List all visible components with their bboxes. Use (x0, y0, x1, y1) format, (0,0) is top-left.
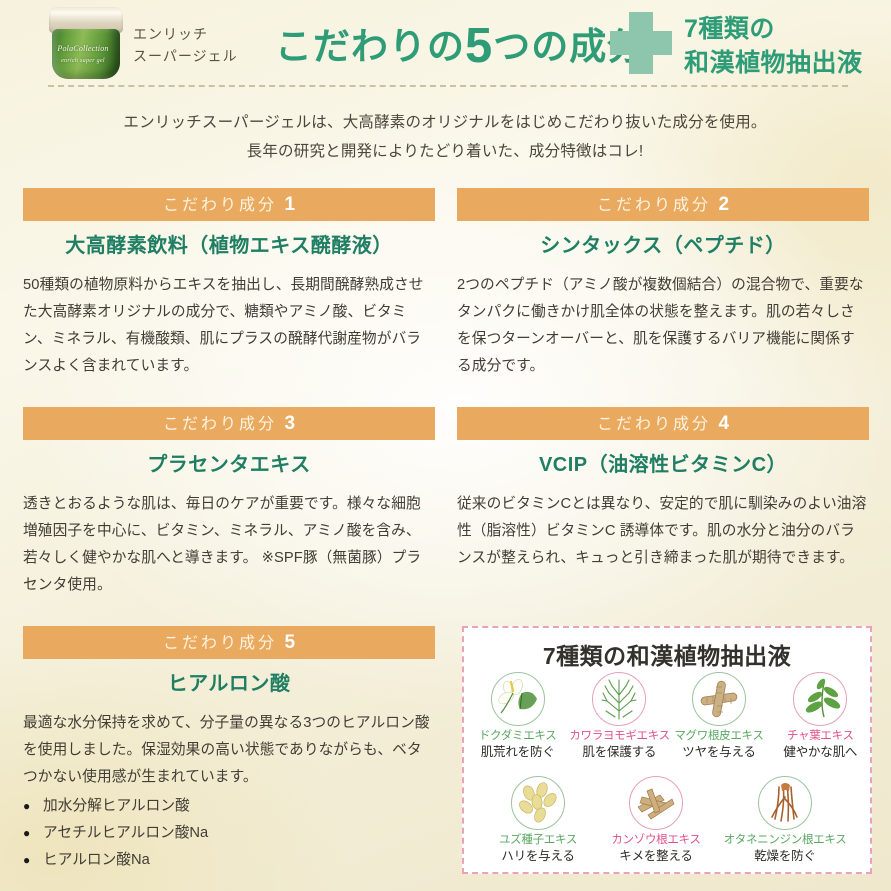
herb-name: カワラヨモギエキス (569, 729, 669, 744)
ingredient-bar-number-5: 5 (284, 632, 295, 653)
jar-brand-line1: PolaCollection (57, 44, 108, 53)
ingredient-bar-label-3: こだわり成分 (163, 416, 277, 433)
dokudami-flower-icon (491, 672, 545, 726)
kawarayomogi-leaf-icon (592, 672, 646, 726)
ingredient-body-4: 従来のビタミンCとは異なり、安定的で肌に馴染みのよい油溶性（脂溶性）ビタミンC … (457, 491, 869, 572)
list-item: アセチルヒアルロン酸Na (23, 820, 435, 847)
herb-effect: 乾燥を防ぐ (715, 848, 855, 864)
herb-item-kanzou: カンゾウ根エキス キメを整える (597, 776, 715, 864)
product-ingredient-infographic: PolaCollection enrich super gel エンリッチ スー… (0, 0, 891, 891)
herbal-extract-title: 7種類の和漢植物抽出液 (464, 637, 870, 671)
herb-item-kawarayomogi: カワラヨモギエキス 肌を保護する (569, 672, 669, 760)
herb-effect: ハリを与える (479, 848, 597, 864)
maguwa-root-icon (692, 672, 746, 726)
intro-line1: エンリッチスーパージェルは、大高酵素のオリジナルをはじめこだわり抜いた成分を使用… (123, 114, 766, 131)
main-title: こだわりの5つの成分 (275, 16, 645, 71)
ingredient-bar-label-4: こだわり成分 (597, 416, 711, 433)
cha-leaf-icon (793, 672, 847, 726)
plus-icon-vertical-bar (629, 12, 653, 74)
otaneninjin-root-icon (758, 776, 812, 830)
ingredient-body-2: 2つのペプチド（アミノ酸が複数個結合）の混合物で、重要なタンパクに働きかけ肌全体… (457, 272, 869, 380)
ingredient-bar-number-3: 3 (284, 413, 295, 434)
herb-name: ドクダミエキス (468, 729, 567, 744)
ingredient-bar-number-2: 2 (718, 194, 729, 215)
herb-item-yuzu: ユズ種子エキス ハリを与える (479, 776, 597, 864)
kanzou-root-icon (629, 776, 683, 830)
ingredient-card-5: こだわり成分 5 ヒアルロン酸 最適な水分保持を求めて、分子量の異なる3つのヒア… (23, 626, 435, 874)
herb-name: オタネニンジン根エキス (715, 833, 855, 848)
ingredient-card-2: こだわり成分 2 シンタックス（ペプチド） 2つのペプチド（アミノ酸が複数個結合… (457, 188, 869, 380)
ingredient-card-3: こだわり成分 3 プラセンタエキス 透きとおるような肌は、毎日のケアが重要です。… (23, 407, 435, 599)
ingredient-bar-label-2: こだわり成分 (597, 197, 711, 214)
ingredient-bar-label-5: こだわり成分 (163, 635, 277, 652)
ingredient-title-2: シンタックス（ペプチド） (457, 233, 869, 259)
plus-icon (610, 12, 672, 74)
herbal-extract-row-1: ドクダミエキス 肌荒れを防ぐ (464, 672, 870, 760)
herb-item-cha: チャ葉エキス 健やかな肌へ (771, 672, 870, 760)
header-divider (48, 85, 848, 87)
ingredient-bar-1: こだわり成分 1 (23, 188, 435, 221)
herb-name: マグワ根皮エキス (669, 729, 768, 744)
ingredient-bar-4: こだわり成分 4 (457, 407, 869, 440)
ingredient-bar-label-1: こだわり成分 (163, 197, 277, 214)
jar-brand-text: PolaCollection enrich super gel (55, 43, 111, 67)
herb-effect: 肌荒れを防ぐ (468, 744, 567, 760)
herb-name: カンゾウ根エキス (597, 833, 715, 848)
ingredient-title-5: ヒアルロン酸 (23, 671, 435, 697)
sub-title: 7種類の 和漢植物抽出液 (684, 12, 863, 80)
herb-effect: 健やかな肌へ (771, 744, 870, 760)
product-name-line1: エンリッチ (133, 27, 208, 43)
ingredient-card-4: こだわり成分 4 VCIP（油溶性ビタミンC） 従来のビタミンCとは異なり、安定… (457, 407, 869, 572)
herbal-extract-row-2: ユズ種子エキス ハリを与える カンゾウ根エキス キメを整える (464, 776, 870, 864)
ingredient-bar-3: こだわり成分 3 (23, 407, 435, 440)
intro-line2: 長年の研究と開発によりたどり着いた、成分特徴はコレ! (247, 143, 644, 160)
herb-effect: 肌を保護する (569, 744, 669, 760)
ingredient-bar-number-4: 4 (718, 413, 729, 434)
herb-item-otaneninjin: オタネニンジン根エキス 乾燥を防ぐ (715, 776, 855, 864)
herb-item-maguwa: マグワ根皮エキス ツヤを与える (669, 672, 768, 760)
ingredient-bar-2: こだわり成分 2 (457, 188, 869, 221)
ingredient-body-5: 最適な水分保持を求めて、分子量の異なる3つのヒアルロン酸を使用しました。保湿効果… (23, 710, 435, 791)
intro-text: エンリッチスーパージェルは、大高酵素のオリジナルをはじめこだわり抜いた成分を使用… (80, 108, 810, 166)
herb-effect: ツヤを与える (669, 744, 768, 760)
herb-name: ユズ種子エキス (479, 833, 597, 848)
herbal-extract-box: 7種類の和漢植物抽出液 ドクダミエキス 肌荒れを防ぐ (462, 626, 872, 874)
product-name: エンリッチ スーパージェル (133, 24, 263, 68)
ingredient-bar-number-1: 1 (284, 194, 295, 215)
yuzu-seed-icon (511, 776, 565, 830)
sub-title-line1: 7種類の (684, 15, 775, 43)
product-name-line2: スーパージェル (133, 49, 238, 65)
ingredient-card-1: こだわり成分 1 大高酵素飲料（植物エキス醗酵液） 50種類の植物原料からエキス… (23, 188, 435, 380)
sub-title-line2: 和漢植物抽出液 (684, 49, 863, 77)
main-title-number: 5 (465, 19, 493, 73)
jar-brand-line2: enrich super gel (61, 58, 105, 64)
header: PolaCollection enrich super gel エンリッチ スー… (0, 0, 891, 90)
ingredient-title-1: 大高酵素飲料（植物エキス醗酵液） (23, 233, 435, 259)
list-item: ヒアルロン酸Na (23, 847, 435, 874)
main-title-pre: こだわりの (275, 26, 465, 67)
herb-name: チャ葉エキス (771, 729, 870, 744)
herb-item-dokudami: ドクダミエキス 肌荒れを防ぐ (468, 672, 567, 760)
ingredient-bar-5: こだわり成分 5 (23, 626, 435, 659)
ingredient-body-1: 50種類の植物原料からエキスを抽出し、長期間醗酵熟成させた大高酵素オリジナルの成… (23, 272, 435, 380)
list-item: 加水分解ヒアルロン酸 (23, 793, 435, 820)
herb-effect: キメを整える (597, 848, 715, 864)
ingredient-title-4: VCIP（油溶性ビタミンC） (457, 452, 869, 478)
product-jar-image: PolaCollection enrich super gel (47, 7, 125, 79)
ingredient-body-3: 透きとおるような肌は、毎日のケアが重要です。様々な細胞増殖因子を中心に、ビタミン… (23, 491, 435, 599)
ingredient-title-3: プラセンタエキス (23, 452, 435, 478)
ingredient-bullet-list-5: 加水分解ヒアルロン酸 アセチルヒアルロン酸Na ヒアルロン酸Na (23, 793, 435, 874)
